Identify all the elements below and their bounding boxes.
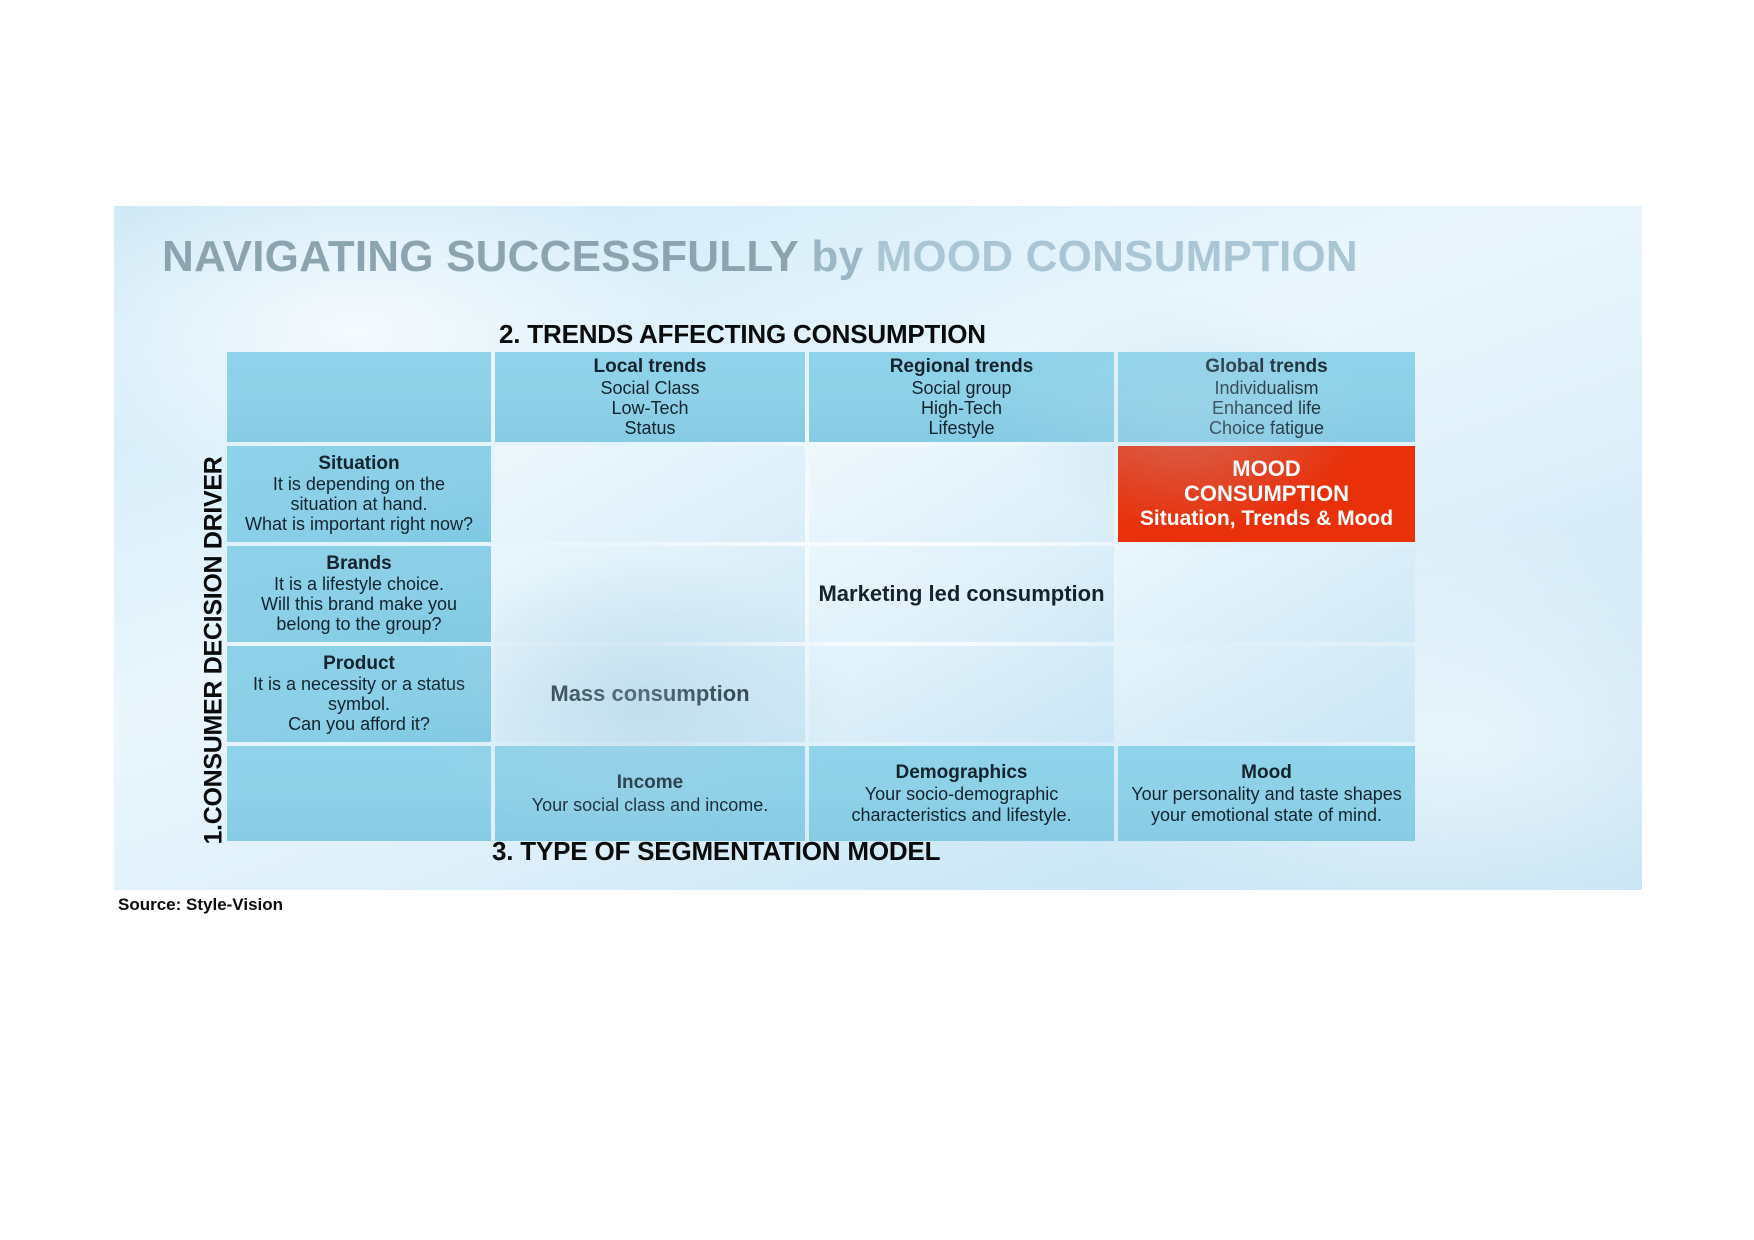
column-header-regional-trends: Regional trends Social groupHigh-TechLif… xyxy=(809,352,1114,442)
cell-brands-global xyxy=(1118,546,1415,642)
cell-brands-local xyxy=(495,546,805,642)
consumption-matrix: Local trends Social ClassLow-TechStatus … xyxy=(227,352,1395,841)
column-footer-income: Income Your social class and income. xyxy=(495,746,805,841)
column-footer-mood-lines: Your personality and taste shapesyour em… xyxy=(1131,784,1402,824)
axis-label-consumer-decision-driver: 1.CONSUMER DECISION DRIVER xyxy=(200,436,229,866)
row-header-situation-title: Situation xyxy=(318,453,399,474)
row-header-situation: Situation It is depending on thesituatio… xyxy=(227,446,491,542)
column-header-regional-trends-title: Regional trends xyxy=(890,356,1034,377)
page-title: NAVIGATING SUCCESSFULLY by MOOD CONSUMPT… xyxy=(162,234,1636,280)
column-footer-demographics-lines: Your socio-demographiccharacteristics an… xyxy=(851,784,1071,824)
page-title-connector: by xyxy=(811,232,863,281)
column-header-regional-trends-lines: Social groupHigh-TechLifestyle xyxy=(911,378,1011,438)
column-footer-demographics-title: Demographics xyxy=(896,762,1028,783)
row-header-brands: Brands It is a lifestyle choice.Will thi… xyxy=(227,546,491,642)
column-header-global-trends-lines: IndividualismEnhanced lifeChoice fatigue xyxy=(1209,378,1324,438)
column-header-local-trends: Local trends Social ClassLow-TechStatus xyxy=(495,352,805,442)
row-header-product-title: Product xyxy=(323,653,395,674)
matrix-corner-bottom-left xyxy=(227,746,491,841)
column-header-global-trends-title: Global trends xyxy=(1205,356,1327,377)
cell-situation-global-mood-consumption: MOODCONSUMPTION Situation, Trends & Mood xyxy=(1118,446,1415,542)
mood-consumption-subtitle: Situation, Trends & Mood xyxy=(1140,507,1393,531)
heading-trends-affecting-consumption: 2. TRENDS AFFECTING CONSUMPTION xyxy=(499,319,986,350)
matrix-corner-top-left xyxy=(227,352,491,442)
row-header-product-lines: It is a necessity or a statussymbol.Can … xyxy=(253,675,465,734)
cell-product-global xyxy=(1118,646,1415,742)
column-footer-demographics: Demographics Your socio-demographicchara… xyxy=(809,746,1114,841)
column-footer-mood-title: Mood xyxy=(1241,762,1292,783)
column-header-local-trends-lines: Social ClassLow-TechStatus xyxy=(600,378,699,438)
source-credit: Source: Style-Vision xyxy=(118,895,283,915)
poster-panel: NAVIGATING SUCCESSFULLY by MOOD CONSUMPT… xyxy=(114,206,1642,890)
page-title-part2: MOOD CONSUMPTION xyxy=(876,232,1358,281)
cell-situation-local xyxy=(495,446,805,542)
column-header-local-trends-title: Local trends xyxy=(594,356,707,377)
mood-consumption-title: MOODCONSUMPTION xyxy=(1184,457,1349,506)
row-header-brands-title: Brands xyxy=(326,553,391,574)
row-header-product: Product It is a necessity or a statussym… xyxy=(227,646,491,742)
row-header-brands-lines: It is a lifestyle choice.Will this brand… xyxy=(261,575,457,634)
column-header-global-trends: Global trends IndividualismEnhanced life… xyxy=(1118,352,1415,442)
cell-product-regional xyxy=(809,646,1114,742)
marketing-led-consumption-label: Marketing led consumption xyxy=(818,582,1104,607)
column-footer-mood: Mood Your personality and taste shapesyo… xyxy=(1118,746,1415,841)
column-footer-income-title: Income xyxy=(617,772,684,793)
cell-product-local-mass-consumption: Mass consumption xyxy=(495,646,805,742)
cell-brands-regional-marketing-led-consumption: Marketing led consumption xyxy=(809,546,1114,642)
row-header-situation-lines: It is depending on thesituation at hand.… xyxy=(245,475,473,534)
column-footer-income-lines: Your social class and income. xyxy=(532,795,768,815)
cell-situation-regional xyxy=(809,446,1114,542)
mass-consumption-label: Mass consumption xyxy=(550,682,749,707)
page-title-part1: NAVIGATING SUCCESSFULLY xyxy=(162,232,799,281)
